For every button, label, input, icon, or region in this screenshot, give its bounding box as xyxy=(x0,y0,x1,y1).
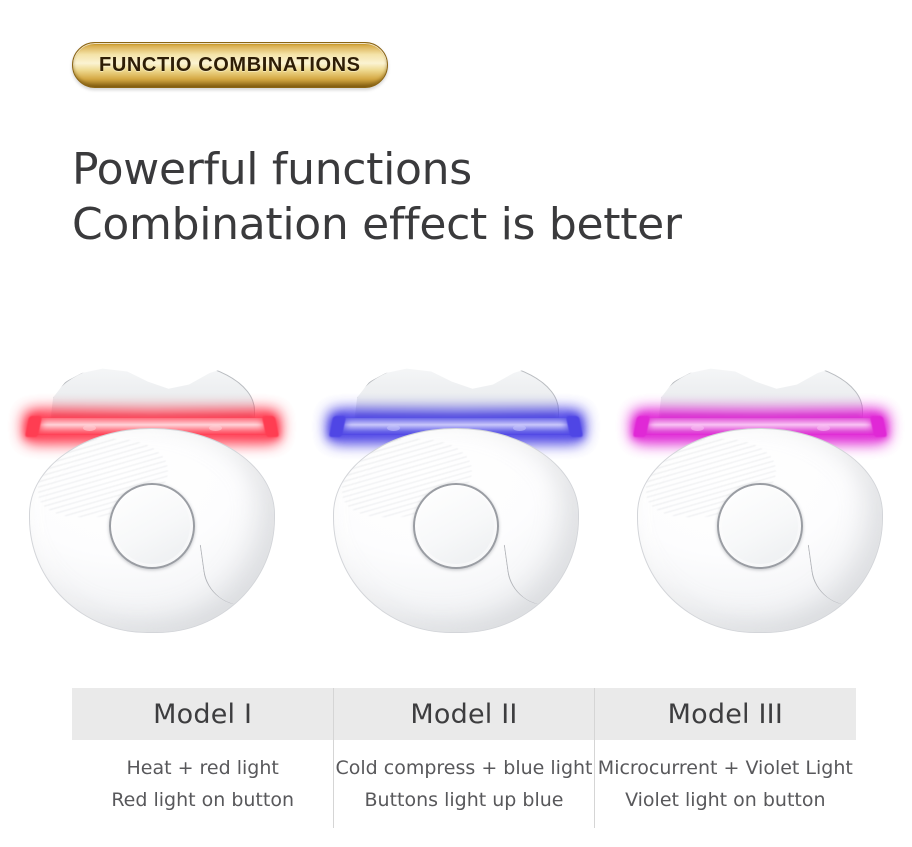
device-body-shell xyxy=(29,428,275,633)
body-notch xyxy=(504,536,579,611)
power-button[interactable] xyxy=(413,483,499,569)
column-divider xyxy=(594,688,595,828)
device-model-1 xyxy=(17,352,287,652)
gold-pill-badge: FUNCTIO COMBINATIONS xyxy=(72,42,388,88)
power-button-face xyxy=(722,488,798,564)
feature-line-1: Heat + red light xyxy=(126,752,278,784)
led-indicator-dot xyxy=(817,425,830,431)
column-header-model-2: Model II xyxy=(333,688,594,740)
headline-line-2: Combination effect is better xyxy=(72,197,682,252)
led-indicator-dot xyxy=(691,425,704,431)
device-gallery xyxy=(0,352,912,664)
device-body-shell xyxy=(333,428,579,633)
column-header-model-3: Model III xyxy=(595,688,856,740)
column-body-model-3: Microcurrent + Violet Light Violet light… xyxy=(595,740,856,834)
led-indicator-dot xyxy=(513,425,526,431)
device-model-3 xyxy=(625,352,895,652)
column-header-model-1: Model I xyxy=(72,688,333,740)
feature-line-2: Red light on button xyxy=(111,784,294,816)
device-cell-1 xyxy=(0,352,304,664)
table-body-row: Heat + red light Red light on button Col… xyxy=(72,740,856,834)
led-indicator-dot xyxy=(83,425,96,431)
page-headline: Powerful functions Combination effect is… xyxy=(72,142,682,252)
power-button-face xyxy=(114,488,190,564)
device-cell-3 xyxy=(608,352,912,664)
headline-line-1: Powerful functions xyxy=(72,142,682,197)
feature-line-1: Cold compress + blue light xyxy=(335,752,592,784)
feature-line-2: Buttons light up blue xyxy=(365,784,564,816)
badge-label: FUNCTIO COMBINATIONS xyxy=(99,54,361,77)
device-body-shell xyxy=(637,428,883,633)
power-button[interactable] xyxy=(717,483,803,569)
model-comparison-table: Model I Model II Model III Heat + red li… xyxy=(72,688,856,834)
product-feature-page: FUNCTIO COMBINATIONS Powerful functions … xyxy=(0,0,912,847)
device-cell-2 xyxy=(304,352,608,664)
column-body-model-2: Cold compress + blue light Buttons light… xyxy=(333,740,594,834)
table-header-row: Model I Model II Model III xyxy=(72,688,856,740)
device-model-2 xyxy=(321,352,591,652)
feature-line-1: Microcurrent + Violet Light xyxy=(598,752,853,784)
column-divider xyxy=(333,688,334,828)
section-badge: FUNCTIO COMBINATIONS xyxy=(72,42,388,88)
feature-line-2: Violet light on button xyxy=(625,784,825,816)
body-notch xyxy=(808,536,883,611)
power-button[interactable] xyxy=(109,483,195,569)
power-button-face xyxy=(418,488,494,564)
column-body-model-1: Heat + red light Red light on button xyxy=(72,740,333,834)
led-indicator-dot xyxy=(209,425,222,431)
body-notch xyxy=(200,536,275,611)
led-indicator-dot xyxy=(387,425,400,431)
